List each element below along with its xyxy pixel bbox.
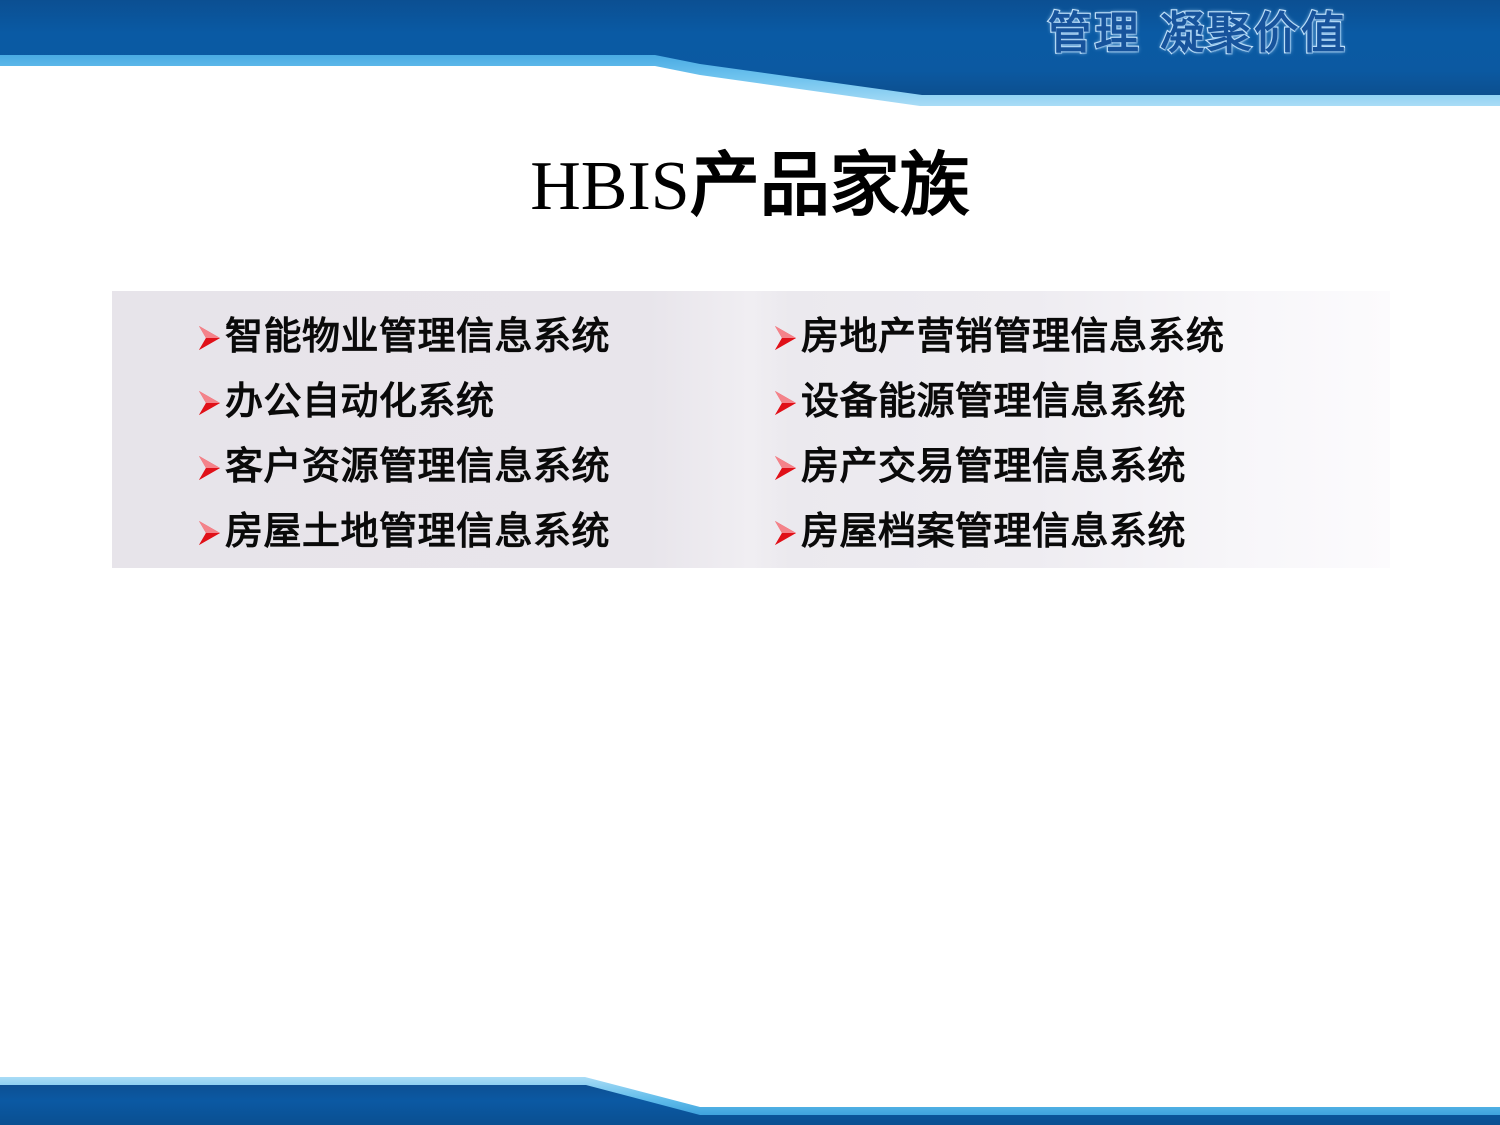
red-arrow-bullet-icon <box>198 370 225 435</box>
page-title-latin: HBIS <box>530 148 689 225</box>
header-tagline: 管理 凝聚价值 <box>1048 12 1348 56</box>
red-arrow-bullet-icon <box>198 500 225 565</box>
red-arrow-bullet-icon <box>198 305 225 370</box>
red-arrow-bullet-icon <box>774 435 801 500</box>
page-title-cjk: 产品家族 <box>690 148 970 225</box>
list-item[interactable]: 房屋档案管理信息系统 <box>774 500 1390 565</box>
list-item[interactable]: 房屋土地管理信息系统 <box>198 500 686 565</box>
list-item-label: 智能物业管理信息系统 <box>225 305 610 370</box>
footer-decorative-band <box>0 1045 1500 1125</box>
list-item[interactable]: 办公自动化系统 <box>198 370 686 435</box>
list-item-label: 房产交易管理信息系统 <box>801 435 1186 500</box>
list-item-label: 设备能源管理信息系统 <box>801 370 1186 435</box>
presentation-slide: 管理 凝聚价值 HBIS产品家族 智能物业管理信息系统 <box>0 0 1500 1125</box>
list-item[interactable]: 房地产营销管理信息系统 <box>774 305 1390 370</box>
list-item-label: 客户资源管理信息系统 <box>225 435 610 500</box>
list-item-label: 办公自动化系统 <box>225 370 495 435</box>
list-item-label: 房屋档案管理信息系统 <box>801 500 1186 565</box>
product-family-panel: 智能物业管理信息系统 办公自动化系统 <box>112 291 1390 568</box>
red-arrow-bullet-icon <box>198 435 225 500</box>
product-list-right-column: 房地产营销管理信息系统 设备能源管理信息系统 <box>686 291 1390 568</box>
list-item[interactable]: 客户资源管理信息系统 <box>198 435 686 500</box>
list-item[interactable]: 房产交易管理信息系统 <box>774 435 1390 500</box>
red-arrow-bullet-icon <box>774 370 801 435</box>
red-arrow-bullet-icon <box>774 500 801 565</box>
list-item-label: 房地产营销管理信息系统 <box>801 305 1225 370</box>
list-item[interactable]: 设备能源管理信息系统 <box>774 370 1390 435</box>
red-arrow-bullet-icon <box>774 305 801 370</box>
page-title: HBIS产品家族 <box>0 152 1500 222</box>
list-item[interactable]: 智能物业管理信息系统 <box>198 305 686 370</box>
product-list-left-column: 智能物业管理信息系统 办公自动化系统 <box>112 291 686 568</box>
list-item-label: 房屋土地管理信息系统 <box>225 500 610 565</box>
